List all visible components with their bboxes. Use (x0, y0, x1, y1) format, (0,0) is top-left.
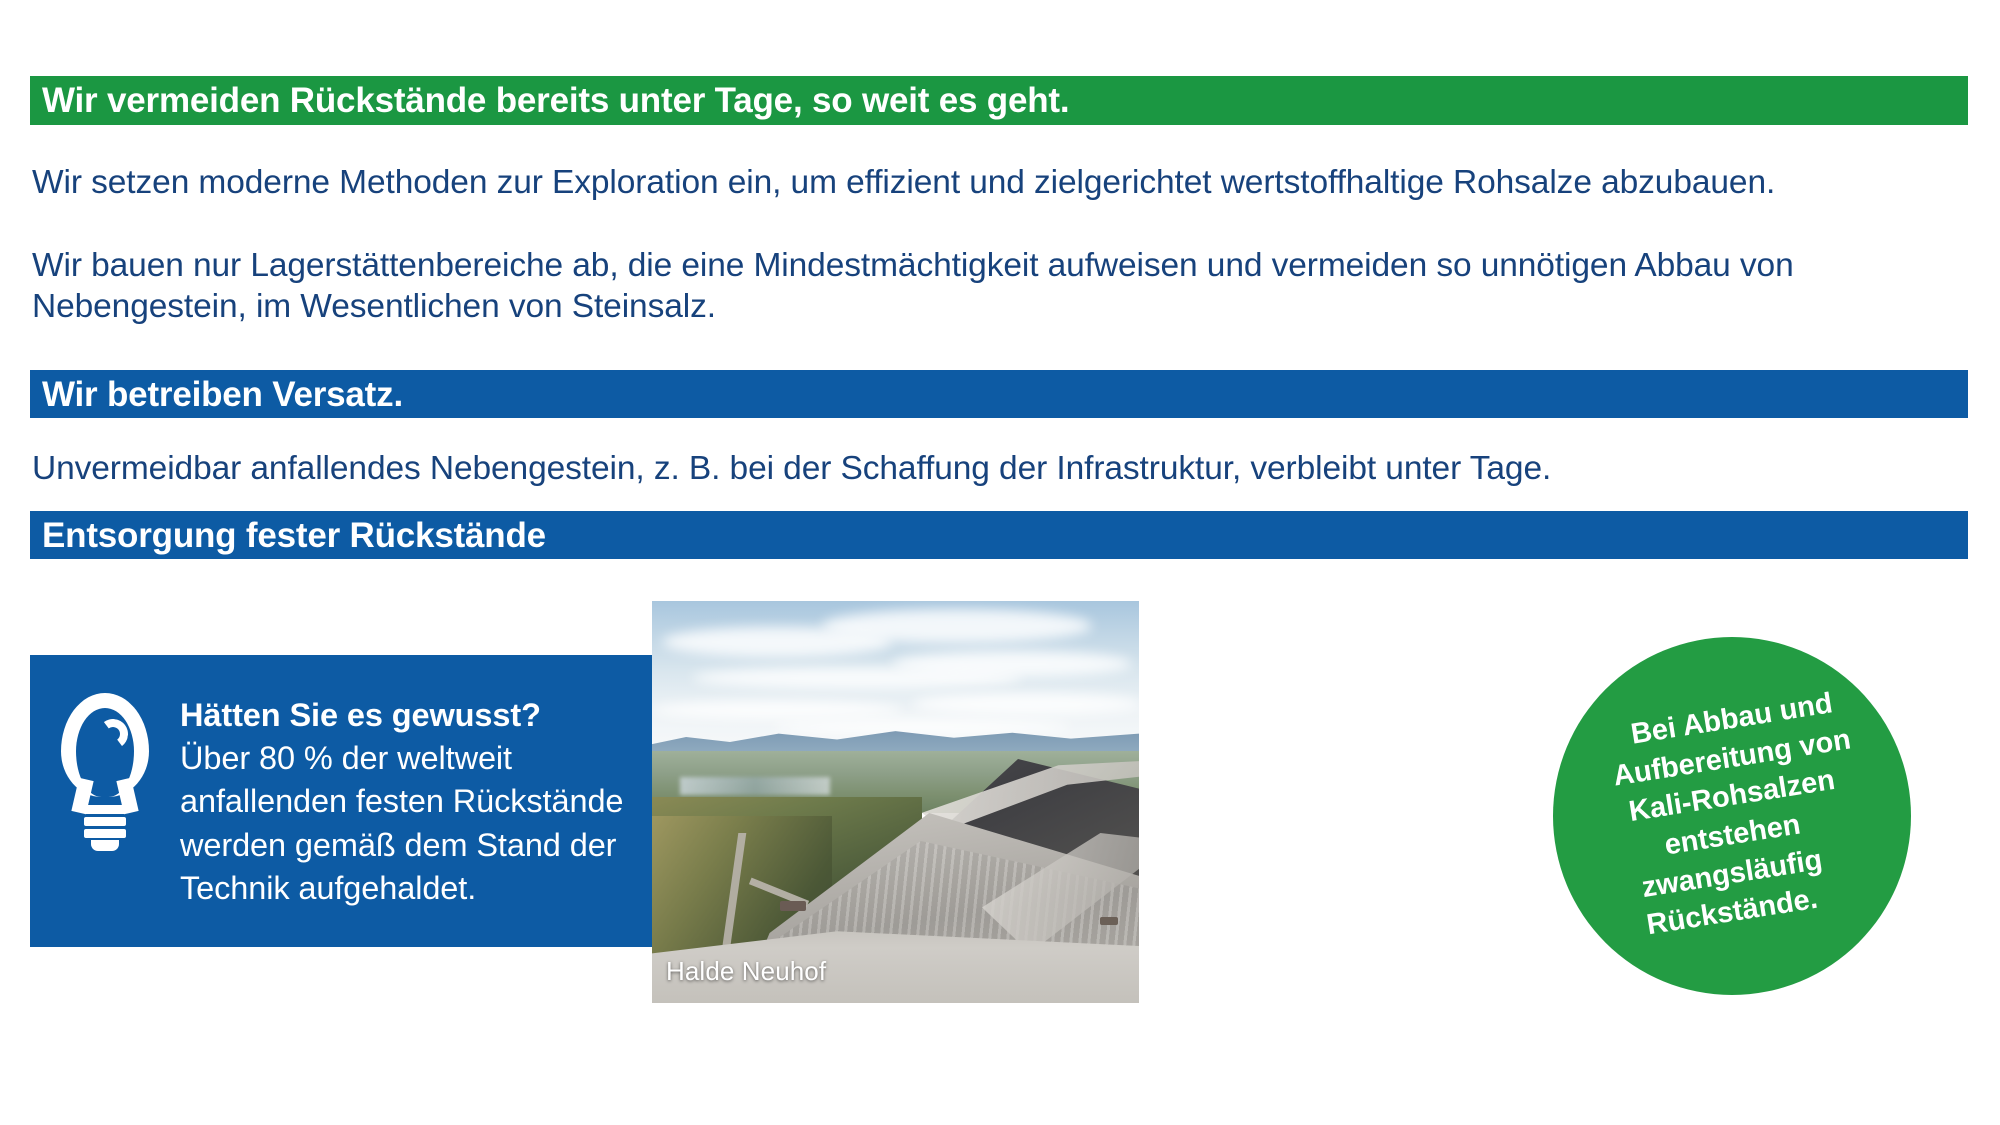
did-you-know-body-line: werden gemäß dem Stand der (180, 824, 623, 868)
lightbulb-base-ring-2 (84, 817, 126, 826)
did-you-know-body-line: anfallenden festen Rückstände (180, 780, 623, 824)
photo-cloud (912, 693, 1139, 715)
photo-cloud (892, 651, 1132, 677)
did-you-know-body: Über 80 % der weltweit anfallenden feste… (180, 737, 623, 911)
photo-town (680, 777, 830, 795)
section-1-heading: Wir vermeiden Rückstände bereits unter T… (42, 83, 1069, 118)
section-3-heading: Entsorgung fester Rückstände (42, 518, 546, 553)
section-2-paragraph-1: Unvermeidbar anfallendes Nebengestein, z… (32, 448, 1962, 489)
photo-machinery (1100, 917, 1118, 925)
photo-machinery (780, 901, 806, 911)
did-you-know-body-line: Technik aufgehaldet. (180, 867, 623, 911)
did-you-know-heading: Hätten Sie es gewusst? (180, 695, 623, 737)
photo-cloud (822, 609, 1092, 643)
lightbulb-base-tip (91, 840, 119, 851)
did-you-know-body-line: Über 80 % der weltweit (180, 737, 623, 781)
halde-neuhof-photo: Halde Neuhof (652, 601, 1139, 1003)
photo-cloud (772, 719, 1072, 735)
section-heading-bar-green: Wir vermeiden Rückstände bereits unter T… (30, 76, 1968, 125)
section-heading-bar-blue-1: Wir betreiben Versatz. (30, 370, 1968, 418)
section-1-paragraph-1: Wir setzen moderne Methoden zur Explorat… (32, 162, 1962, 203)
lightbulb-icon (30, 655, 180, 851)
did-you-know-text-block: Hätten Sie es gewusst? Über 80 % der wel… (180, 655, 641, 911)
photo-cloud (652, 701, 902, 719)
lightbulb-base-ring-3 (84, 829, 126, 838)
green-circle-callout: Bei Abbau und Aufbereitung von Kali-Rohs… (1553, 637, 1911, 995)
section-1-paragraph-2: Wir bauen nur Lagerstättenbereiche ab, d… (32, 245, 1978, 327)
section-2-heading: Wir betreiben Versatz. (42, 377, 403, 412)
section-heading-bar-blue-2: Entsorgung fester Rückstände (30, 511, 1968, 559)
slide-canvas: Wir vermeiden Rückstände bereits unter T… (0, 0, 2000, 1125)
photo-caption: Halde Neuhof (666, 956, 826, 987)
lightbulb-base-ring-1 (84, 805, 126, 814)
